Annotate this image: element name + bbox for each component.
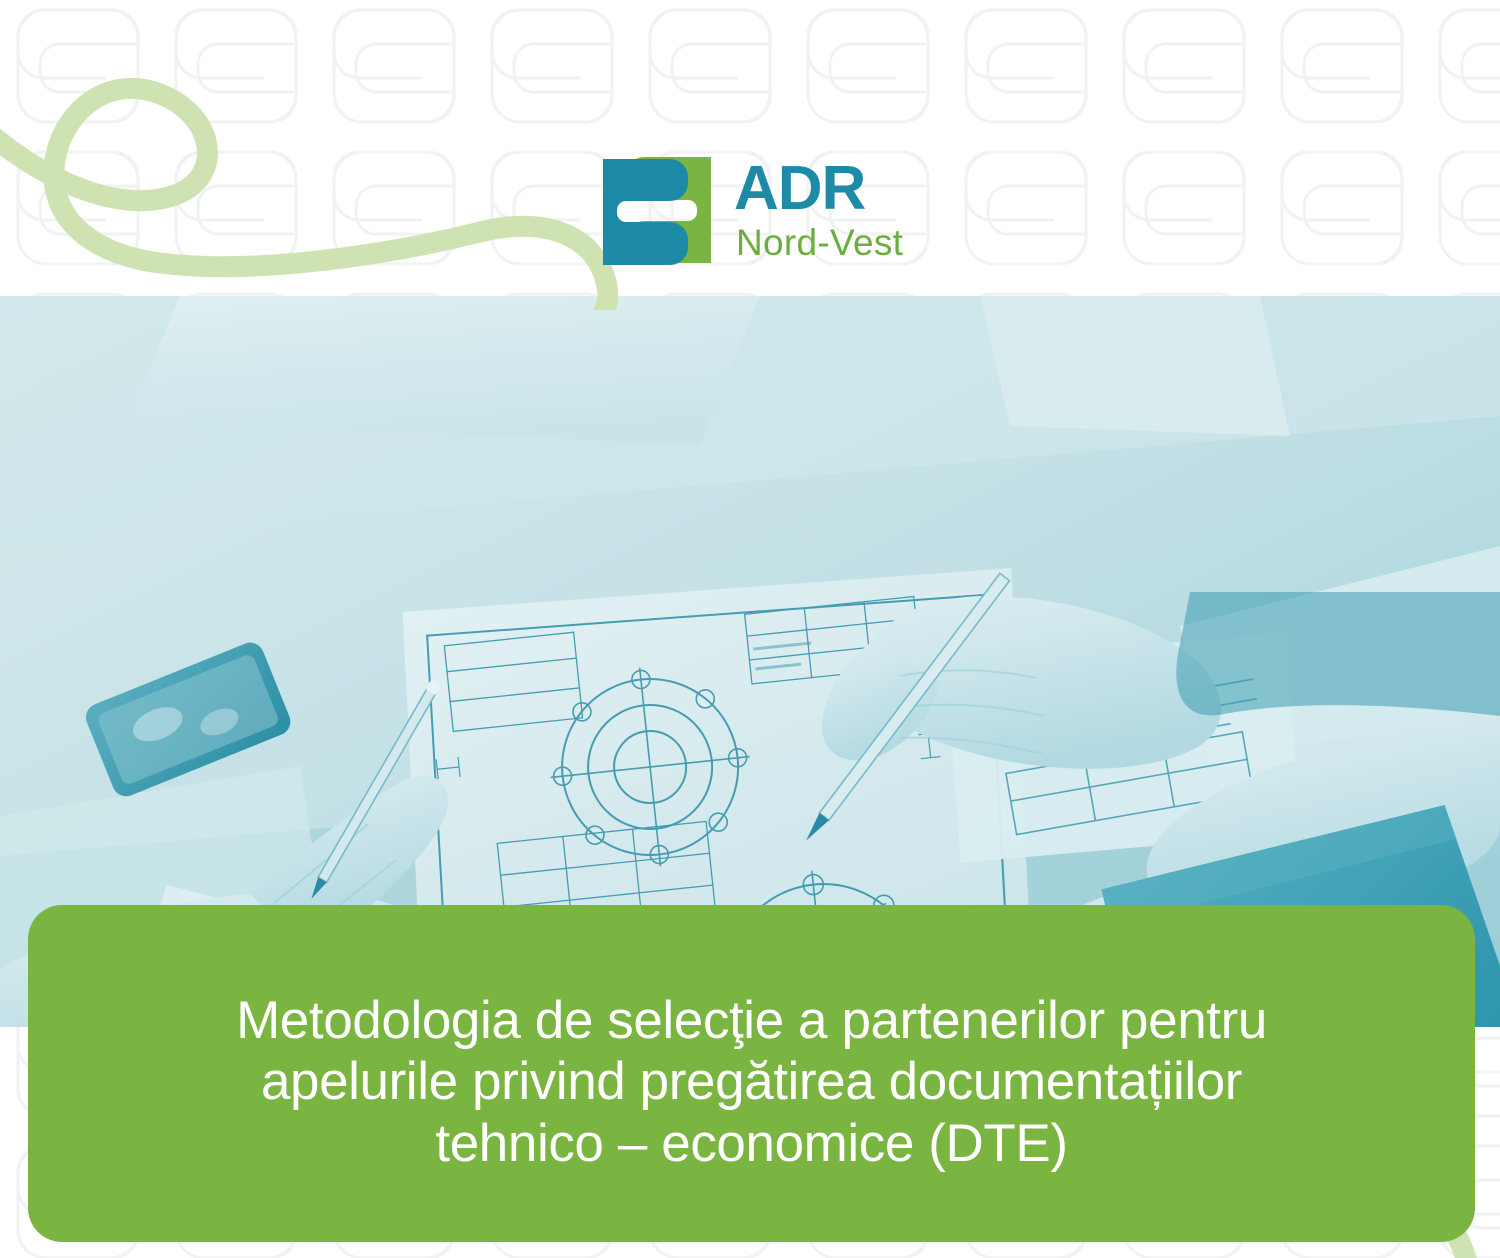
title-line-3: tehnico – economice (DTE): [88, 1113, 1415, 1174]
page-title: Metodologia de selecţie a partenerilor p…: [28, 905, 1475, 1174]
title-line-1: Metodologia de selecţie a partenerilor p…: [88, 990, 1415, 1051]
adr-logo-wordmark: ADR Nord-Vest: [734, 159, 903, 263]
adr-logo: ADR Nord-Vest: [598, 152, 908, 270]
cover-slide: ADR Nord-Vest: [0, 0, 1500, 1258]
adr-interlocking-c-mark-icon: [598, 155, 716, 267]
title-banner: Metodologia de selecţie a partenerilor p…: [28, 905, 1475, 1242]
adr-brand-text: ADR: [734, 159, 865, 220]
adr-subtitle-text: Nord-Vest: [736, 222, 903, 263]
title-line-2: apelurile privind pregătirea documentați…: [88, 1051, 1415, 1112]
